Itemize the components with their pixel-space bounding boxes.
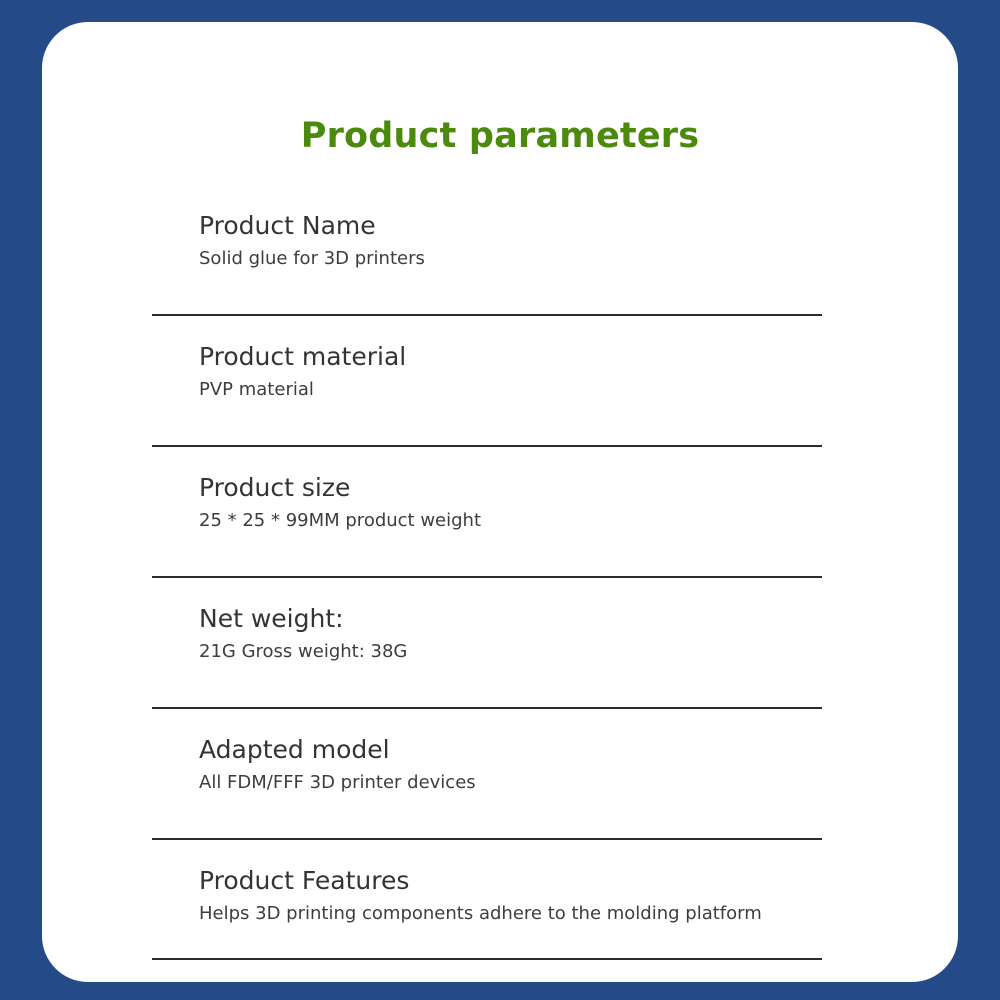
spec-value: All FDM/FFF 3D printer devices: [199, 770, 822, 796]
spec-value: 21G Gross weight: 38G: [199, 639, 822, 665]
product-parameters-page: Product parameters Product Name Solid gl…: [0, 0, 1000, 1000]
spec-row-content: Product size 25 * 25 * 99MM product weig…: [199, 471, 822, 534]
spec-label: Adapted model: [199, 733, 822, 767]
spec-row-product-features: Product Features Helps 3D printing compo…: [152, 840, 822, 971]
spec-row-adapted-model: Adapted model All FDM/FFF 3D printer dev…: [152, 709, 822, 840]
product-parameters-card: Product parameters Product Name Solid gl…: [42, 22, 958, 982]
page-title: Product parameters: [42, 114, 958, 158]
specification-list: Product Name Solid glue for 3D printers …: [152, 185, 822, 971]
spec-label: Product size: [199, 471, 822, 505]
spec-row-net-weight: Net weight: 21G Gross weight: 38G: [152, 578, 822, 709]
spec-value: PVP material: [199, 377, 822, 403]
spec-label: Product material: [199, 340, 822, 374]
spec-value: Helps 3D printing components adhere to t…: [199, 901, 822, 927]
spec-row-product-size: Product size 25 * 25 * 99MM product weig…: [152, 447, 822, 578]
spec-row-content: Adapted model All FDM/FFF 3D printer dev…: [199, 733, 822, 796]
spec-row-content: Product Name Solid glue for 3D printers: [199, 209, 822, 272]
spec-row-product-material: Product material PVP material: [152, 316, 822, 447]
spec-row-product-name: Product Name Solid glue for 3D printers: [152, 185, 822, 316]
spec-value: Solid glue for 3D printers: [199, 246, 822, 272]
spec-row-content: Product Features Helps 3D printing compo…: [199, 864, 822, 927]
spec-row-content: Product material PVP material: [199, 340, 822, 403]
spec-value: 25 * 25 * 99MM product weight: [199, 508, 822, 534]
spec-row-content: Net weight: 21G Gross weight: 38G: [199, 602, 822, 665]
spec-divider: [152, 958, 822, 960]
spec-label: Net weight:: [199, 602, 822, 636]
spec-label: Product Name: [199, 209, 822, 243]
spec-label: Product Features: [199, 864, 822, 898]
